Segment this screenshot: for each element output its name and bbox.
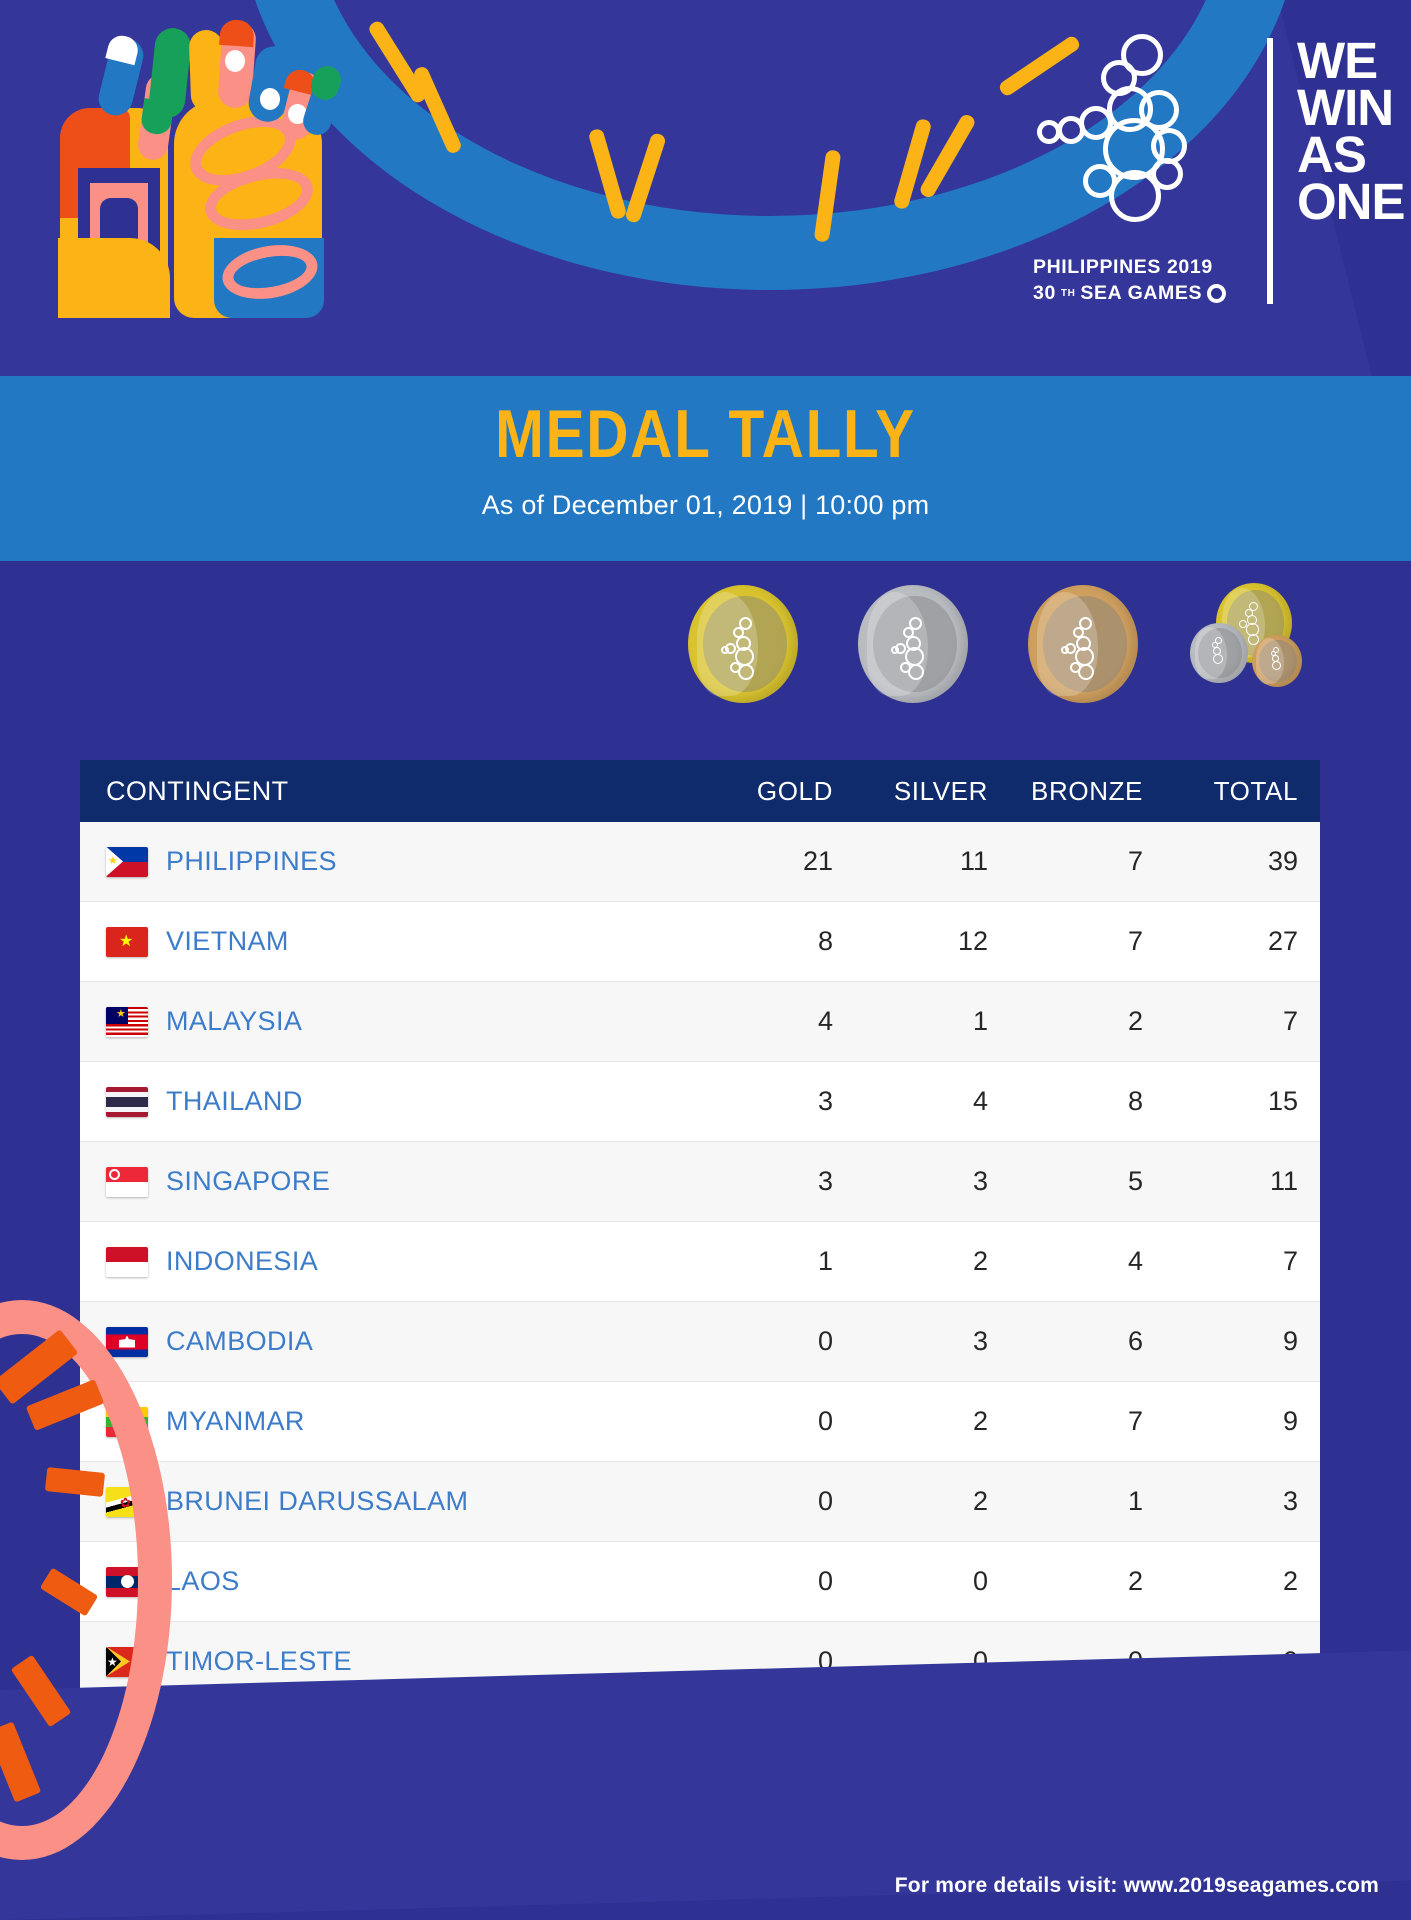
cell-contingent: CAMBODIA — [80, 1326, 700, 1357]
table-row[interactable]: SINGAPORE33511 — [80, 1142, 1320, 1222]
table-row[interactable]: CAMBODIA0369 — [80, 1302, 1320, 1382]
cell-silver: 3 — [855, 1166, 1010, 1197]
cell-gold: 3 — [700, 1086, 855, 1117]
cell-total: 9 — [1165, 1406, 1320, 1437]
table-row[interactable]: THAILAND34815 — [80, 1062, 1320, 1142]
cell-contingent: INDONESIA — [80, 1246, 700, 1277]
cell-contingent: ★VIETNAM — [80, 926, 700, 957]
column-header-gold: GOLD — [700, 776, 855, 807]
tagline-line-4: ONE — [1297, 179, 1411, 226]
cell-total: 3 — [1165, 1486, 1320, 1517]
header-banner: PHILIPPINES 2019 30TH SEA GAMES WE WIN A… — [0, 0, 1411, 376]
country-name: LAOS — [166, 1566, 240, 1597]
cell-bronze: 6 — [1010, 1326, 1165, 1357]
cell-contingent: SINGAPORE — [80, 1166, 700, 1197]
cell-contingent: ★MYANMAR — [80, 1406, 700, 1437]
table-row[interactable]: ★PHILIPPINES2111739 — [80, 822, 1320, 902]
flag-thailand-icon — [106, 1087, 148, 1117]
cell-total: 9 — [1165, 1326, 1320, 1357]
column-header-contingent: CONTINGENT — [80, 776, 700, 807]
table-row[interactable]: INDONESIA1247 — [80, 1222, 1320, 1302]
cell-silver: 3 — [855, 1326, 1010, 1357]
sea-games-logo-block: PHILIPPINES 2019 30TH SEA GAMES WE WIN A… — [1035, 18, 1395, 310]
cell-contingent: LAOS — [80, 1566, 700, 1597]
asean-emblem-icon — [1207, 284, 1226, 303]
cell-total: 11 — [1165, 1166, 1320, 1197]
country-name: CAMBODIA — [166, 1326, 313, 1357]
cell-total: 39 — [1165, 846, 1320, 877]
flag-vietnam-icon: ★ — [106, 927, 148, 957]
cell-gold: 8 — [700, 926, 855, 957]
table-row[interactable]: ✿BRUNEI DARUSSALAM0213 — [80, 1462, 1320, 1542]
footer-link-text[interactable]: For more details visit: www.2019seagames… — [895, 1874, 1379, 1898]
country-name: MYANMAR — [166, 1406, 305, 1437]
cell-bronze: 7 — [1010, 1406, 1165, 1437]
total-medals-icon — [1190, 583, 1310, 703]
title-band: MEDAL TALLY As of December 01, 2019 | 10… — [0, 376, 1411, 561]
tagline-line-2: WIN — [1297, 85, 1411, 132]
cell-silver: 2 — [855, 1246, 1010, 1277]
cell-bronze: 5 — [1010, 1166, 1165, 1197]
table-header-row: CONTINGENT GOLD SILVER BRONZE TOTAL — [80, 760, 1320, 822]
cell-gold: 4 — [700, 1006, 855, 1037]
cell-silver: 0 — [855, 1566, 1010, 1597]
country-name: VIETNAM — [166, 926, 289, 957]
cell-silver: 4 — [855, 1086, 1010, 1117]
flag-indonesia-icon — [106, 1247, 148, 1277]
tagline-line-3: AS — [1297, 132, 1411, 179]
cell-silver: 12 — [855, 926, 1010, 957]
cell-silver: 2 — [855, 1406, 1010, 1437]
medal-tally-table: CONTINGENT GOLD SILVER BRONZE TOTAL ★PHI… — [80, 760, 1320, 1762]
flag-philippines-icon: ★ — [106, 847, 148, 877]
page-title: MEDAL TALLY — [99, 376, 1312, 468]
country-name: TIMOR-LESTE — [166, 1646, 352, 1677]
flag-cambodia-icon — [106, 1327, 148, 1357]
logo-edition-number: 30 — [1033, 282, 1056, 305]
cell-gold: 21 — [700, 846, 855, 877]
cell-gold: 0 — [700, 1486, 855, 1517]
medal-icon-row — [0, 575, 1411, 710]
country-name: SINGAPORE — [166, 1166, 330, 1197]
country-name: PHILIPPINES — [166, 846, 337, 877]
cell-total: 7 — [1165, 1246, 1320, 1277]
cell-gold: 0 — [700, 1326, 855, 1357]
logo-caption: PHILIPPINES 2019 30TH SEA GAMES — [1033, 256, 1243, 305]
logo-games-name: SEA GAMES — [1080, 282, 1202, 305]
country-name: MALAYSIA — [166, 1006, 302, 1037]
cell-total: 27 — [1165, 926, 1320, 957]
tagline-line-1: WE — [1297, 38, 1411, 85]
page-subtitle-timestamp: As of December 01, 2019 | 10:00 pm — [0, 468, 1411, 521]
cell-contingent: ★PHILIPPINES — [80, 846, 700, 877]
logo-line1: PHILIPPINES 2019 — [1033, 256, 1243, 279]
cell-bronze: 2 — [1010, 1006, 1165, 1037]
table-row[interactable]: ★MALAYSIA4127 — [80, 982, 1320, 1062]
cell-total: 15 — [1165, 1086, 1320, 1117]
cell-total: 7 — [1165, 1006, 1320, 1037]
flag-malaysia-icon: ★ — [106, 1007, 148, 1037]
cell-total: 2 — [1165, 1566, 1320, 1597]
cell-silver: 11 — [855, 846, 1010, 877]
cell-bronze: 2 — [1010, 1566, 1165, 1597]
cell-silver: 2 — [855, 1486, 1010, 1517]
cell-bronze: 1 — [1010, 1486, 1165, 1517]
cell-bronze: 8 — [1010, 1086, 1165, 1117]
logo-edition-suffix: TH — [1061, 288, 1076, 299]
cell-gold: 0 — [700, 1566, 855, 1597]
column-header-silver: SILVER — [855, 776, 1010, 807]
table-body: ★PHILIPPINES2111739★VIETNAM812727★MALAYS… — [80, 822, 1320, 1762]
cell-contingent: ★MALAYSIA — [80, 1006, 700, 1037]
table-row[interactable]: LAOS0022 — [80, 1542, 1320, 1622]
flag-singapore-icon — [106, 1167, 148, 1197]
clasped-hands-illustration — [38, 8, 338, 308]
cell-bronze: 7 — [1010, 926, 1165, 957]
country-name: THAILAND — [166, 1086, 303, 1117]
sea-games-rings-logo — [1035, 34, 1241, 254]
table-row[interactable]: ★MYANMAR0279 — [80, 1382, 1320, 1462]
country-name: INDONESIA — [166, 1246, 318, 1277]
cell-contingent: ✿BRUNEI DARUSSALAM — [80, 1486, 700, 1517]
tagline-we-win-as-one: WE WIN AS ONE — [1297, 38, 1411, 226]
cell-bronze: 4 — [1010, 1246, 1165, 1277]
table-row[interactable]: ★VIETNAM812727 — [80, 902, 1320, 982]
cell-gold: 0 — [700, 1406, 855, 1437]
logo-divider — [1267, 38, 1273, 304]
column-header-bronze: BRONZE — [1010, 776, 1165, 807]
cell-silver: 1 — [855, 1006, 1010, 1037]
cell-bronze: 7 — [1010, 846, 1165, 877]
country-name: BRUNEI DARUSSALAM — [166, 1486, 468, 1517]
cell-gold: 3 — [700, 1166, 855, 1197]
column-header-total: TOTAL — [1165, 776, 1320, 807]
cell-gold: 1 — [700, 1246, 855, 1277]
cell-contingent: THAILAND — [80, 1086, 700, 1117]
logo-line2: 30TH SEA GAMES — [1033, 282, 1243, 305]
